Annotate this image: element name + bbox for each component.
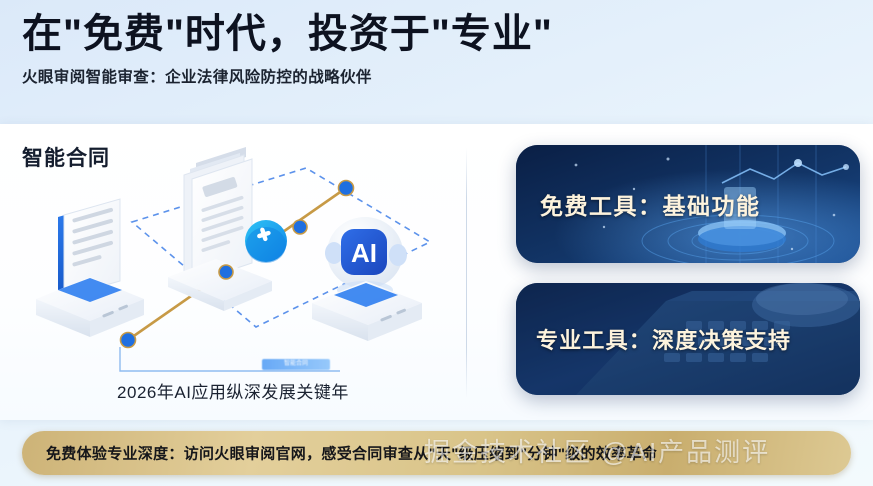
card-label-free-tools: 免费工具：基础功能 xyxy=(540,187,761,221)
page-title: 在"免费"时代，投资于"专业" xyxy=(22,12,853,57)
document-node-left xyxy=(36,199,144,337)
page-subtitle: 火眼审阅智能审查：企业法律风险防控的战略伙伴 xyxy=(22,65,853,87)
header: 在"免费"时代，投资于"专业" 火眼审阅智能审查：企业法律风险防控的战略伙伴 xyxy=(22,12,853,87)
illustration-mini-label: 智能合同 xyxy=(262,359,330,370)
panel-divider xyxy=(466,148,467,398)
illustration-caption: 2026年AI应用纵深发展关键年 xyxy=(0,378,466,403)
ai-robot-label: AI xyxy=(351,238,377,268)
slide-root: 在"免费"时代，投资于"专业" 火眼审阅智能审查：企业法律风险防控的战略伙伴 智… xyxy=(0,0,873,486)
document-stack-node xyxy=(168,147,287,311)
feature-card-free-tools[interactable]: 免费工具：基础功能 xyxy=(516,145,860,263)
feature-card-pro-tools[interactable]: 专业工具：深度决策支持 xyxy=(516,283,860,395)
card-label-pro-tools: 专业工具：深度决策支持 xyxy=(536,323,791,355)
smart-contract-illustration: AI xyxy=(10,135,460,385)
cta-banner[interactable]: 免费体验专业深度：访问火眼审阅官网，感受合同审查从"天"级压缩到"分钟"级的效率… xyxy=(22,431,851,475)
cta-banner-text: 免费体验专业深度：访问火眼审阅官网，感受合同审查从"天"级压缩到"分钟"级的效率… xyxy=(46,443,657,464)
ai-robot-node: AI xyxy=(312,217,422,341)
plus-badge-icon xyxy=(245,220,287,263)
